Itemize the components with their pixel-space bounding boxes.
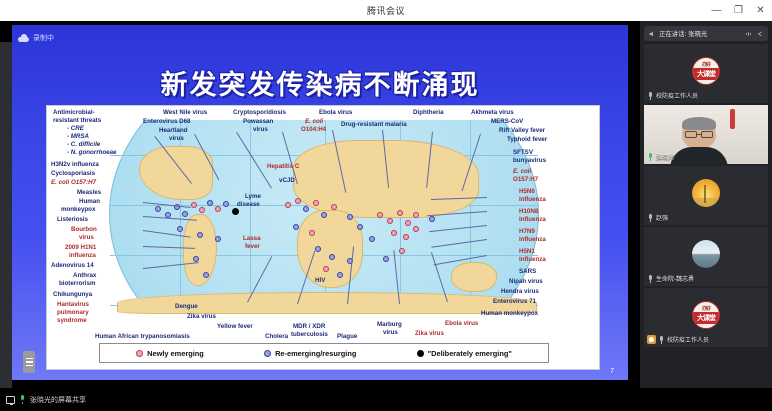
map-label: Bourbon [71,227,97,234]
map-label: Plague [337,334,357,341]
map-label: - N. gonorrhoeae [67,150,117,157]
landmass-europe-asia [293,140,479,218]
participant-nametag: 生命院-魏志勇 [647,274,694,283]
map-label: Dengue [175,304,198,311]
outbreak-dot [177,226,183,232]
map-label: Enterovirus D68 [143,119,190,126]
outbreak-dot [315,246,321,252]
title-bar: 腾讯会议 — ❐ ✕ [0,0,772,21]
avatar-logo-top-text: 办好 [702,61,710,68]
participant-nametag: 校防疫工作人员 [647,335,709,344]
map-label: Cryptosporidiosis [233,110,286,117]
avatar-logo-bottom-text: 大课堂 [693,68,719,80]
map-label: - C. difficile [67,142,100,149]
active-speaker-label: 正在讲话: 张晓光 [659,29,742,38]
avatar [692,179,720,207]
microphone-icon [647,153,654,161]
figure-legend: Newly emerging Re-emerging/resurging "De… [99,343,549,363]
outbreak-dot [369,236,375,242]
slide-page-number: 7 [610,368,614,375]
close-button[interactable]: ✕ [755,6,766,16]
participant-tile[interactable]: 赵强 [644,166,768,225]
map-label: SARS [519,269,536,276]
microphone-muted-icon [647,92,654,100]
outbreak-dot-deliberate [232,208,239,215]
map-label: virus [253,127,268,134]
avatar: 办好 大课堂 [692,57,720,85]
outbreak-dot [405,220,411,226]
map-label: bunyavirus [513,158,546,165]
map-label: Zika virus [187,314,216,321]
outbreak-dot [285,202,291,208]
map-label: Nipah virus [509,279,543,286]
legend-label: Newly emerging [147,349,204,358]
participant-tile[interactable]: 生命院-魏志勇 [644,227,768,286]
map-label: Lassa [243,236,261,243]
map-label: Marburg [377,322,402,329]
map-label: Ebola virus [319,110,352,117]
map-label: syndrome [57,318,87,325]
map-label: Measles [77,190,101,197]
outbreak-dot [155,206,161,212]
map-label: Hantavirus [57,302,89,309]
avatar: 办好 大课堂 [692,301,720,329]
map-label: virus [79,235,94,242]
map-label: Anthrax [73,273,96,280]
map-label: H5N1 [519,249,535,256]
map-label: H10N8 [519,209,538,216]
outbreak-dot [215,236,221,242]
participant-rail: 正在讲话: 张晓光 办好 大课堂 校防疫工作人员 [640,21,772,388]
slide-title: 新发突发传染病不断涌现 [12,63,628,102]
outbreak-dot [191,202,197,208]
map-label: MDR / XDR [293,324,325,331]
map-label: Heartland [159,128,188,135]
map-label: Cholera [265,334,288,341]
outbreak-dot [199,207,205,213]
tencent-meeting-window: 腾讯会议 — ❐ ✕ 录制中 新发突发传染病不断涌现 [0,0,772,411]
presentation-slide: 录制中 新发突发传染病不断涌现 [12,25,628,380]
legend-item-deliberately-emerging: "Deliberately emerging" [417,349,512,358]
map-label: influenza [519,237,546,244]
participant-name: 校防疫工作人员 [667,335,709,344]
shared-screen-stage[interactable]: 录制中 新发突发传染病不断涌现 [0,21,640,388]
stage-left-strip [0,42,12,409]
participant-tiles: 办好 大课堂 校防疫工作人员 张晓光 [644,44,768,349]
map-label: E. coli [305,119,323,126]
outbreak-dot [391,230,397,236]
legend-label: Re-emerging/resurging [275,349,356,358]
screen-share-label: 张晓光的屏幕共享 [30,395,86,405]
map-label: Akhmeta virus [471,110,514,117]
map-label: H7N9 [519,229,535,236]
map-label: Drug-resistant malaria [341,122,407,129]
participant-tile[interactable]: 办好 大课堂 校防疫工作人员 [644,288,768,347]
participant-tile[interactable]: 办好 大课堂 校防疫工作人员 [644,44,768,103]
map-label: Antimicrobial- [53,110,95,117]
map-label: bioterrorism [59,281,95,288]
map-label: vCJD [279,178,295,185]
outbreak-dot [313,200,319,206]
map-label: Typhoid fever [507,137,547,144]
map-label: H5N6 [519,189,535,196]
map-label: - CRE [67,126,84,133]
microphone-muted-icon [647,275,654,283]
outbreak-dot [403,234,409,240]
outbreak-dot [399,248,405,254]
outbreak-dot [293,224,299,230]
outbreak-dot [303,206,309,212]
outbreak-dot [331,204,337,210]
map-label: Ebola virus [445,321,478,328]
outbreak-dot [215,206,221,212]
minimize-button[interactable]: — [711,6,722,16]
map-label: Cyclosporiasis [51,171,95,178]
legend-dot-deliberately-emerging [417,350,424,357]
participant-name: 张晓光 [656,152,674,161]
map-label: O157:H7 [513,177,538,184]
maximize-button[interactable]: ❐ [733,6,744,16]
outbreak-dot [397,210,403,216]
participant-nametag: 赵强 [647,213,668,222]
outbreak-dot [377,212,383,218]
participant-name: 生命院-魏志勇 [656,274,694,283]
outbreak-dot [207,200,213,206]
outbreak-dot [203,272,209,278]
outbreak-dot [223,201,229,207]
map-label: Human [79,199,100,206]
map-label: Zika virus [415,331,444,338]
map-label: Hepatitis C [267,164,299,171]
outbreak-dot [357,224,363,230]
recording-label: 录制中 [33,33,54,43]
participant-name: 赵强 [656,213,668,222]
microphone-icon [19,395,26,404]
microphone-muted-icon [647,214,654,222]
participant-nametag: 张晓光 [647,152,674,161]
map-label: virus [169,136,184,143]
outbreak-dot [347,214,353,220]
sidebar-toggle-handle[interactable] [23,351,35,373]
map-label: Chikungunya [53,292,92,299]
outbreak-dot [329,254,335,260]
recording-indicator: 录制中 [18,33,54,43]
map-label: E. coli [513,169,531,176]
outbreak-dot [429,216,435,222]
disease-map-figure: Antimicrobial- resistant threats - CRE -… [46,105,600,370]
outbreak-dot [387,218,393,224]
monitor-icon [6,396,15,404]
map-label: Rift Valley fever [499,128,545,135]
bottom-status-bar: 张晓光的屏幕共享 [0,388,772,411]
map-label: Human monkeypox [481,311,538,318]
avatar-logo-bottom-text: 大课堂 [693,312,719,324]
active-speaker-bar: 正在讲话: 张晓光 [644,26,768,41]
legend-item-newly-emerging: Newly emerging [136,349,204,358]
outbreak-dot [309,230,315,236]
map-label: influenza [519,197,546,204]
map-label: Enterovirus 71 [493,299,536,306]
speaker-icon [648,30,656,38]
map-label: HIV [315,278,325,285]
map-label: pulmonary [57,310,89,317]
map-label: Listeriosis [57,217,88,224]
map-label: MERS-CoV [491,119,523,126]
map-label: influenza [519,217,546,224]
outbreak-dot [383,256,389,262]
collapse-icon[interactable] [756,30,764,38]
map-label: O104:H4 [301,127,326,134]
legend-dot-re-emerging [264,350,271,357]
map-label: H3N2v influenza [51,162,99,169]
map-label: SFTSV [513,150,533,157]
map-label: - MRSA [67,134,89,141]
map-label: influenza [69,253,96,260]
map-label: E. coli O157:H7 [51,180,96,187]
outbreak-dot [193,256,199,262]
window-title: 腾讯会议 [367,4,405,17]
map-label: 2009 H1N1 [65,245,96,252]
landmass-oceania [451,262,497,292]
audio-wave-icon [745,30,753,38]
avatar [692,240,720,268]
map-label: virus [383,330,398,337]
map-label: Yellow fever [217,324,253,331]
map-label: tuberculosis [291,332,328,339]
microphone-muted-icon [658,336,665,344]
map-label: Hendra virus [501,289,539,296]
outbreak-dot [413,212,419,218]
legend-item-re-emerging: Re-emerging/resurging [264,349,356,358]
map-label: Human African trypanosomiasis [95,334,190,341]
map-label: monkeypox [61,207,95,214]
avatar-logo-top-text: 办好 [702,305,710,312]
cloud-recording-icon [18,34,29,42]
map-label: resistant threats [53,118,101,125]
map-label: Lyme [245,194,261,201]
map-label: West Nile virus [163,110,207,117]
map-label: disease [237,202,260,209]
participant-nametag: 校防疫工作人员 [647,91,698,100]
legend-dot-newly-emerging [136,350,143,357]
map-label: Diphtheria [413,110,444,117]
map-label: fever [245,244,260,251]
legend-label: "Deliberately emerging" [428,349,512,358]
map-label: Powassan [243,119,273,126]
outbreak-dot [295,198,301,204]
outbreak-dot [321,212,327,218]
participant-name: 校防疫工作人员 [656,91,698,100]
outbreak-dot [337,272,343,278]
window-controls: — ❐ ✕ [711,0,766,21]
outbreak-dot [197,232,203,238]
outbreak-dot [323,266,329,272]
outbreak-dot [413,226,419,232]
outbreak-dot [182,211,188,217]
map-label: Adenovirus 14 [51,263,94,270]
map-label: influenza [519,257,546,264]
participant-tile[interactable]: 张晓光 [644,105,768,164]
host-badge-icon [647,335,656,344]
